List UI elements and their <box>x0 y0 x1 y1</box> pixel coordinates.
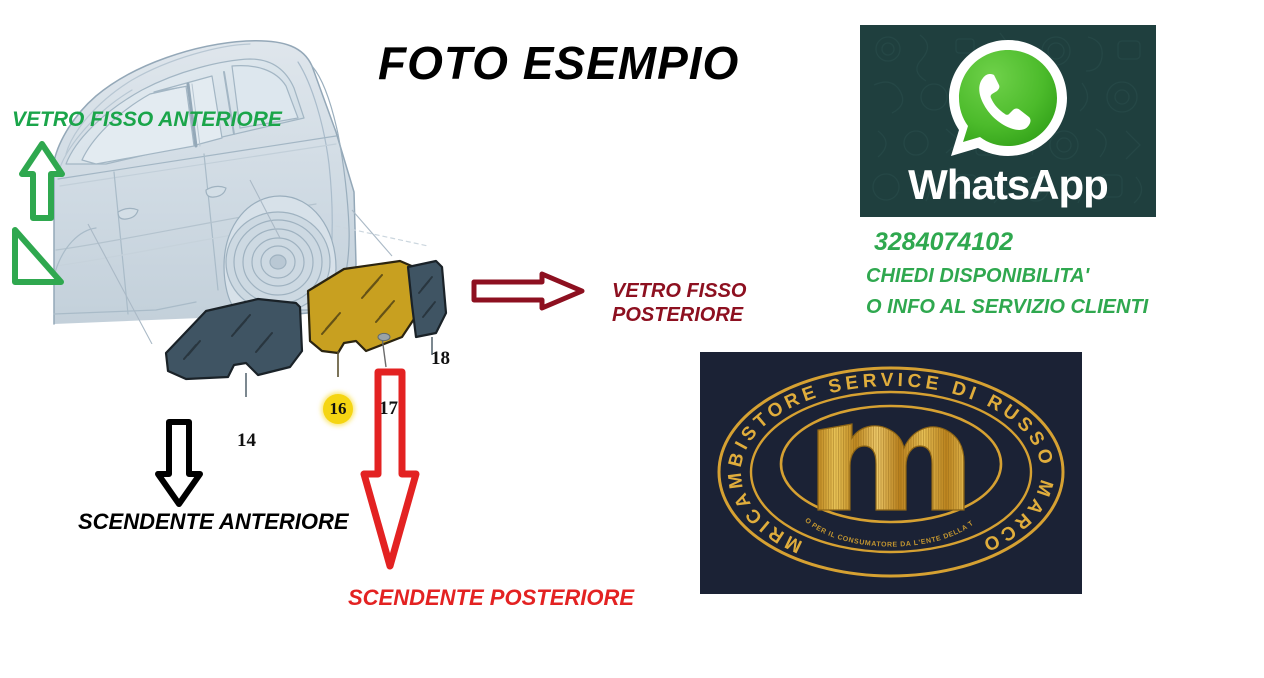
contact-line-2: O INFO AL SERVIZIO CLIENTI <box>866 296 1148 319</box>
part-number-14: 14 <box>237 430 256 452</box>
black-down-arrow <box>155 418 203 513</box>
part-number-badge-16: 16 <box>323 394 353 424</box>
dark-red-right-arrow <box>470 270 586 317</box>
label-vetro-fisso-anteriore: VETRO FISSO ANTERIORE <box>12 108 282 133</box>
shop-logo-svg: MRICAMBISTORE SERVICE DI RUSSO MARCO SER… <box>700 352 1082 594</box>
whatsapp-icon <box>939 35 1077 167</box>
shop-logo-monogram <box>818 424 964 510</box>
part-number-18: 18 <box>431 348 450 370</box>
label-vetro-fisso-posteriore-line1: VETRO FISSO <box>612 280 746 304</box>
label-vetro-fisso-posteriore-line2: POSTERIORE <box>612 304 746 328</box>
shop-logo: MRICAMBISTORE SERVICE DI RUSSO MARCO SER… <box>700 352 1082 594</box>
green-up-arrow <box>18 140 66 227</box>
whatsapp-wordmark: WhatsApp <box>860 161 1156 209</box>
part-16-rear-drop-glass <box>308 261 418 377</box>
part-14-front-drop-glass <box>166 299 302 397</box>
diagram-canvas: 14 17 18 16 FOTO ESEMPIO VETRO FISSO ANT… <box>0 0 1264 678</box>
label-scendente-posteriore: SCENDENTE POSTERIORE <box>348 585 634 611</box>
label-vetro-fisso-posteriore: VETRO FISSO POSTERIORE <box>612 280 746 327</box>
page-title: FOTO ESEMPIO <box>378 36 739 90</box>
contact-line-1: CHIEDI DISPONIBILITA' <box>866 265 1089 288</box>
green-triangle-icon <box>10 225 66 292</box>
phone-number[interactable]: 3284074102 <box>874 228 1013 257</box>
label-scendente-anteriore: SCENDENTE ANTERIORE <box>78 509 349 535</box>
part-18-quarter-glass <box>408 261 446 355</box>
whatsapp-banner: WhatsApp <box>860 25 1156 217</box>
red-down-arrow <box>360 368 420 577</box>
